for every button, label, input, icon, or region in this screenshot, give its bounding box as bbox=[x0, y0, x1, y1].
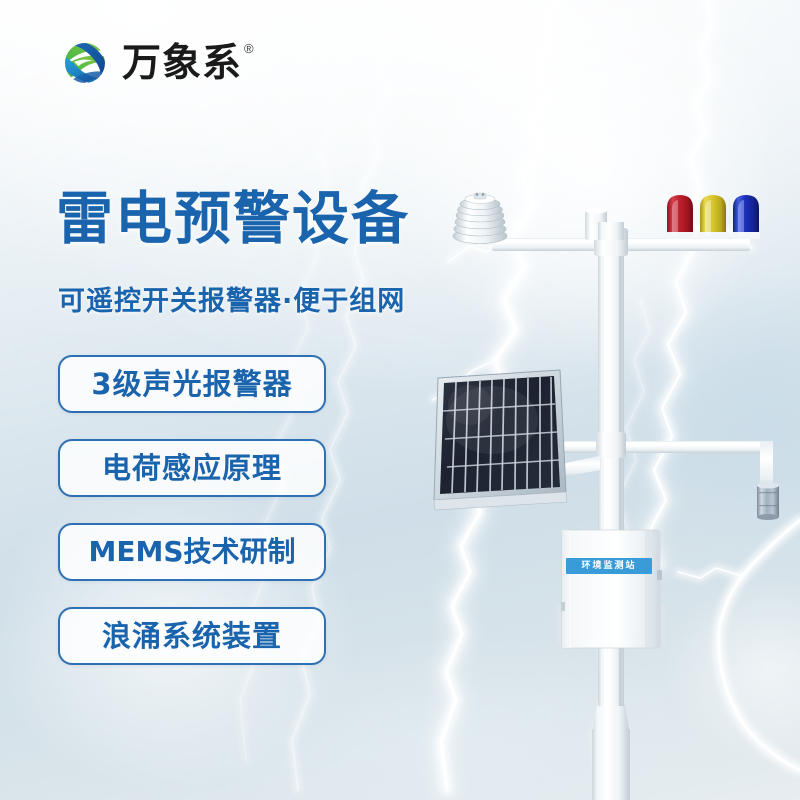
pole-top-cap bbox=[598, 222, 624, 240]
cylindrical-sensor bbox=[757, 483, 779, 521]
feature-badge-list: 3级声光报警器 电荷感应原理 MEMS技术研制 浪涌系统装置 bbox=[58, 355, 326, 665]
brand-name: 万象系 bbox=[122, 44, 242, 83]
feature-badge-4-label: 浪涌系统装置 bbox=[102, 622, 282, 651]
feature-badge-2[interactable]: 电荷感应原理 bbox=[58, 439, 326, 497]
feature-badge-4[interactable]: 浪涌系统装置 bbox=[58, 607, 326, 665]
radiation-shield-sensor bbox=[453, 193, 507, 244]
controller-enclosure bbox=[557, 530, 665, 648]
station-label-badge: 环境监测站 bbox=[566, 558, 652, 574]
alarm-light-yellow bbox=[699, 195, 727, 239]
solar-panel bbox=[434, 370, 600, 510]
brand-wordmark: 万象系 ® bbox=[122, 44, 254, 83]
page-subtitle: 可遥控开关报警器·便于组网 bbox=[58, 288, 405, 315]
registered-trademark-icon: ® bbox=[244, 42, 254, 55]
brand-logo: 万象系 ® bbox=[58, 36, 254, 90]
globe-swirl-logo-icon bbox=[58, 36, 112, 90]
alarm-light-red bbox=[666, 195, 694, 239]
poster-canvas: 环境监测站 bbox=[0, 0, 800, 800]
mast-pole-base bbox=[592, 724, 630, 800]
feature-badge-1[interactable]: 3级声光报警器 bbox=[58, 355, 326, 413]
alarm-light-blue bbox=[732, 195, 760, 239]
feature-badge-3-label: MEMS技术研制 bbox=[88, 538, 295, 566]
station-label-text: 环境监测站 bbox=[581, 562, 636, 571]
feature-badge-2-label: 电荷感应原理 bbox=[102, 454, 282, 483]
three-stage-alarm-beacon bbox=[666, 195, 760, 239]
feature-badge-1-label: 3级声光报警器 bbox=[91, 370, 292, 399]
page-title: 雷电预警设备 bbox=[56, 189, 410, 249]
feature-badge-3[interactable]: MEMS技术研制 bbox=[58, 523, 326, 581]
